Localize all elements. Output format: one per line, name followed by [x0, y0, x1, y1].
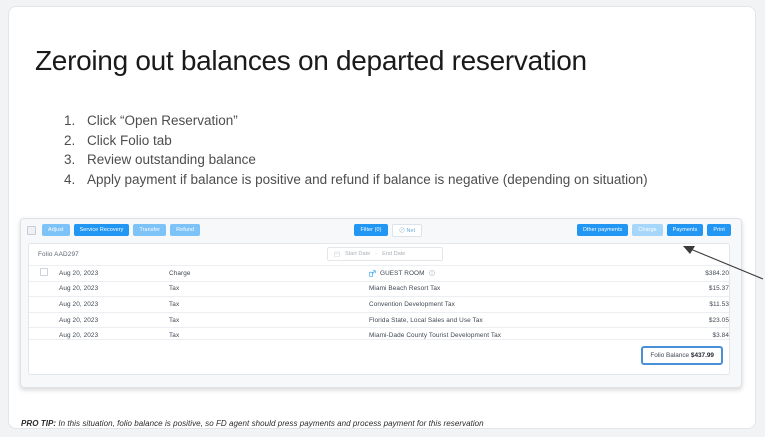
list-item: Click Folio tab [79, 131, 648, 151]
calendar-icon [334, 251, 340, 257]
row-description-wrap: GUEST ROOM [369, 270, 629, 277]
table-row[interactable]: Aug 20, 2023 Tax Miami Beach Resort Tax … [29, 281, 729, 297]
row-type: Tax [169, 297, 369, 313]
row-checkbox-cell[interactable] [29, 281, 59, 297]
folio-card: Folio AAD297 Start Date - End Date [28, 243, 730, 375]
pro-tip-text: In this situation, folio balance is posi… [56, 419, 484, 428]
slide-canvas: Zeroing out balances on departed reserva… [8, 6, 756, 429]
circle-slash-icon [399, 227, 405, 233]
adjust-button[interactable]: Adjust [42, 224, 70, 236]
refund-button[interactable]: Refund [170, 224, 200, 236]
row-description: Florida State, Local Sales and Use Tax [369, 312, 629, 328]
table-row[interactable]: Aug 20, 2023 Tax Convention Development … [29, 297, 729, 313]
date-range-separator: - [375, 251, 377, 257]
row-description: GUEST ROOM [380, 270, 425, 277]
row-date: Aug 20, 2023 [59, 312, 169, 328]
instruction-list: Click “Open Reservation” Click Folio tab… [45, 111, 648, 189]
folio-header-row: Folio AAD297 Start Date - End Date [29, 244, 729, 265]
row-checkbox-cell[interactable] [29, 266, 59, 282]
row-amount: $15.37 [629, 281, 729, 297]
row-type: Charge [169, 266, 369, 282]
date-range-filter[interactable]: Start Date - End Date [327, 247, 443, 261]
select-all-checkbox[interactable] [27, 226, 36, 235]
row-description: Convention Development Tax [369, 297, 629, 313]
row-checkbox[interactable] [40, 268, 48, 276]
list-item: Click “Open Reservation” [79, 111, 648, 131]
row-date: Aug 20, 2023 [59, 281, 169, 297]
pro-tip: PRO TIP: In this situation, folio balanc… [21, 419, 484, 428]
charge-button[interactable]: Charge [632, 224, 662, 236]
row-checkbox-cell[interactable] [29, 312, 59, 328]
service-recovery-button[interactable]: Service Recovery [74, 224, 130, 236]
app-screenshot: Adjust Service Recovery Transfer Refund … [20, 218, 742, 388]
list-item: Apply payment if balance is positive and… [79, 170, 648, 190]
row-description: Miami Beach Resort Tax [369, 281, 629, 297]
net-toggle-button[interactable]: Net [392, 224, 423, 237]
row-type: Tax [169, 312, 369, 328]
filter-button[interactable]: Filter (0) [354, 224, 387, 236]
start-date-input[interactable]: Start Date [345, 251, 370, 257]
table-row[interactable]: Aug 20, 2023 Charge GUEST ROOM [29, 266, 729, 282]
row-date: Aug 20, 2023 [59, 297, 169, 313]
toolbar-right-group: Other payments Charge Payments Print [577, 224, 735, 236]
slide-page: Zeroing out balances on departed reserva… [0, 0, 765, 437]
page-title: Zeroing out balances on departed reserva… [35, 45, 587, 77]
table-row[interactable]: Aug 20, 2023 Tax Florida State, Local Sa… [29, 312, 729, 328]
folio-balance-label: Folio Balance [650, 352, 689, 359]
folio-id-label: Folio AAD297 [38, 251, 79, 258]
folio-toolbar: Adjust Service Recovery Transfer Refund … [21, 219, 741, 241]
info-icon[interactable] [429, 270, 435, 276]
pro-tip-prefix: PRO TIP: [21, 419, 56, 428]
external-link-icon[interactable] [369, 270, 376, 277]
row-description-cell: GUEST ROOM [369, 266, 629, 282]
transfer-button[interactable]: Transfer [133, 224, 166, 236]
other-payments-button[interactable]: Other payments [577, 224, 629, 236]
row-checkbox-cell[interactable] [29, 297, 59, 313]
row-amount: $23.05 [629, 312, 729, 328]
end-date-input[interactable]: End Date [382, 251, 405, 257]
row-amount: $384.20 [629, 266, 729, 282]
folio-table-body: Aug 20, 2023 Charge GUEST ROOM [29, 266, 729, 343]
folio-table: Aug 20, 2023 Charge GUEST ROOM [29, 265, 729, 343]
status-badge: Folio Balance $437.99 [641, 346, 723, 365]
net-toggle-label: Net [407, 228, 416, 234]
list-item: Review outstanding balance [79, 150, 648, 170]
row-amount: $11.53 [629, 297, 729, 313]
folio-balance-value: $437.99 [691, 352, 714, 359]
toolbar-center-group: Filter (0) Net [354, 224, 426, 237]
folio-balance-area: Folio Balance $437.99 [29, 339, 729, 374]
row-date: Aug 20, 2023 [59, 266, 169, 282]
row-type: Tax [169, 281, 369, 297]
print-button[interactable]: Print [707, 224, 731, 236]
payments-button[interactable]: Payments [667, 224, 704, 236]
